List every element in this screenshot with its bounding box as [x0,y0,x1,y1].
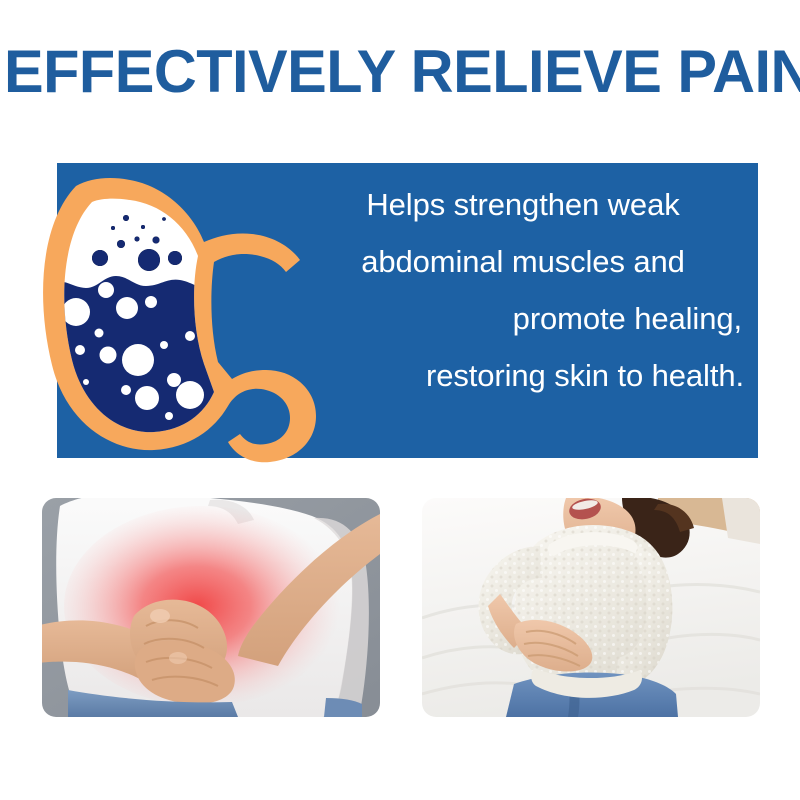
info-line-2: abdominal muscles and [300,233,746,290]
photo-woman-abdominal-pain [422,498,760,717]
photo-man-abdominal-pain [42,498,380,717]
stomach-illustration [14,150,334,470]
info-panel-text: Helps strengthen weak abdominal muscles … [300,176,746,404]
promo-banner: EFFECTIVELY RELIEVE PAIN Helps strengthe… [0,0,800,800]
page-title: EFFECTIVELY RELIEVE PAIN [4,42,796,102]
info-line-4: restoring skin to health. [300,347,746,404]
info-line-3: promote healing, [300,290,746,347]
thumbnail [150,609,170,623]
fingernail [169,652,187,664]
info-line-1: Helps strengthen weak [300,176,746,233]
